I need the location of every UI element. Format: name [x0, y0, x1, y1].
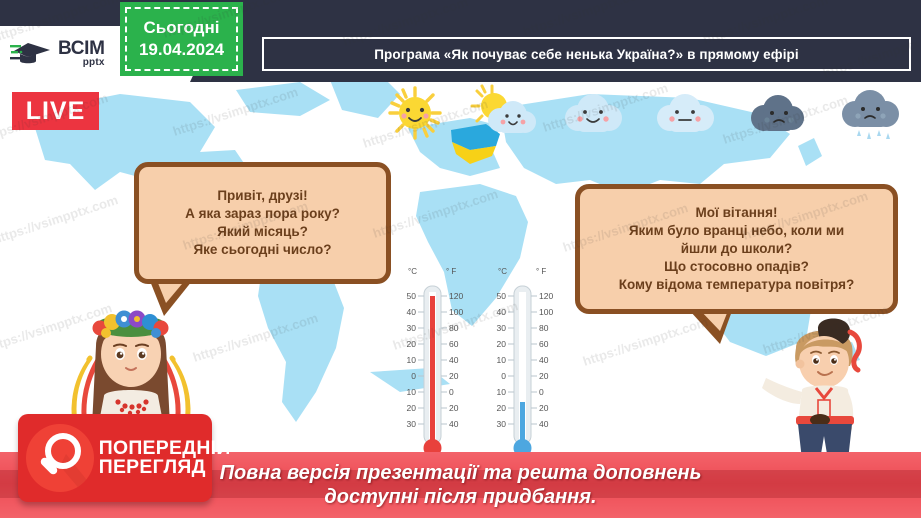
thermo1-f-20: 20 [449, 371, 459, 381]
thermo2-f-0: 0 [539, 387, 544, 397]
thermo2-c-n20: 20 [497, 403, 507, 413]
rain-cloud-icon [831, 82, 909, 144]
thermo1-f-0: 0 [449, 387, 454, 397]
thermo1-c-20: 20 [407, 339, 417, 349]
thermo1-c-30: 30 [407, 323, 417, 333]
thermo1-c-10: 10 [407, 355, 417, 365]
thermo1-f-80: 80 [449, 323, 459, 333]
thermo2-unit-right: ° F [536, 267, 546, 276]
brand-logo: ВСІМ pptx [10, 36, 125, 72]
today-date-box: Сьогодні 19.04.2024 [120, 2, 243, 76]
today-label: Сьогодні [144, 18, 220, 38]
graduation-cap-icon [10, 39, 54, 69]
thermo2-c-20: 20 [497, 339, 507, 349]
header-title-box: Програма «Як почуває себе ненька Україна… [262, 37, 911, 71]
thermo2-c-30: 30 [497, 323, 507, 333]
speech-bubble-left: Привіт, друзі! А яка зараз пора року? Як… [134, 162, 391, 284]
thermo1-c-n30: 30 [407, 419, 417, 429]
thermo2-c-0: 0 [501, 371, 506, 381]
bubble-right-line-3: йшли до школи? [681, 240, 793, 258]
live-label: LIVE [26, 97, 86, 126]
preview-badge-line-1: ПОПЕРЕДНІЙ [99, 439, 231, 458]
ukrainian-boy-character [762, 312, 892, 467]
thermo2-f-60: 60 [539, 339, 549, 349]
dark-cloud-icon [738, 82, 816, 144]
bubble-right-line-4: Що стосовно опадів? [664, 258, 809, 276]
bubble-left-line-3: Який місяць? [217, 223, 308, 241]
thermo2-c-10: 10 [497, 355, 507, 365]
thermo2-f-120: 120 [539, 291, 553, 301]
bottom-banner-line-1: Повна версія презентації та решта доповн… [220, 461, 702, 485]
thermo2-f-40: 40 [539, 355, 549, 365]
cloud-icon-2 [646, 82, 724, 144]
live-badge: LIVE [12, 92, 99, 130]
thermo2-f-n20: 20 [539, 403, 549, 413]
presentation-slide: Програма «Як почуває себе ненька Україна… [0, 0, 921, 518]
preview-badge[interactable]: ПОПЕРЕДНІЙ ПЕРЕГЛЯД [18, 414, 212, 502]
thermo2-c-n10: 10 [497, 387, 507, 397]
thermo1-f-100: 100 [449, 307, 463, 317]
preview-icon-circle [26, 424, 94, 492]
bottom-banner-line-2: доступні після придбання. [324, 485, 596, 509]
thermo2-c-50: 50 [497, 291, 507, 301]
magnifier-icon [26, 424, 94, 492]
today-date: 19.04.2024 [139, 40, 224, 60]
speech-bubble-right: Мої вітання! Яким було вранці небо, коли… [575, 184, 898, 314]
thermo1-f-n20: 20 [449, 403, 459, 413]
thermo2-f-20: 20 [539, 371, 549, 381]
thermo1-f-120: 120 [449, 291, 463, 301]
thermo1-f-n40: 40 [449, 419, 459, 429]
thermo2-f-n40: 40 [539, 419, 549, 429]
logo-subname: pptx [58, 58, 105, 68]
bubble-left-line-1: Привіт, друзі! [217, 187, 307, 205]
bubble-left-line-4: Яке сьогодні число? [193, 241, 331, 259]
weather-icons-row [376, 82, 916, 144]
thermo1-c-40: 40 [407, 307, 417, 317]
thermo2-f-80: 80 [539, 323, 549, 333]
thermo1-unit-right: ° F [446, 267, 456, 276]
bubble-right-line-2: Яким було вранці небо, коли ми [629, 222, 844, 240]
thermo2-unit-left: °C [498, 267, 507, 276]
logo-name: ВСІМ [58, 40, 105, 58]
preview-badge-line-2: ПЕРЕГЛЯД [99, 458, 231, 477]
thermo2-c-40: 40 [497, 307, 507, 317]
thermo2-f-100: 100 [539, 307, 553, 317]
thermometer-celsius-blue: °C ° F 50 40 30 20 10 0 10 20 30 [486, 262, 558, 460]
thermo1-c-0: 0 [411, 371, 416, 381]
sun-icon [376, 82, 454, 144]
thermo2-c-n30: 30 [497, 419, 507, 429]
thermo1-f-40: 40 [449, 355, 459, 365]
thermo1-c-50: 50 [407, 291, 417, 301]
bubble-right-line-1: Мої вітання! [696, 204, 778, 222]
thermometer-celsius-red: °C ° F 50 40 30 20 10 0 10 20 30 [396, 262, 468, 460]
bubble-right-line-5: Кому відома температура повітря? [619, 276, 855, 294]
page-title: Програма «Як почуває себе ненька Україна… [374, 47, 799, 62]
bubble-left-line-2: А яка зараз пора року? [185, 205, 340, 223]
thermo1-f-60: 60 [449, 339, 459, 349]
sun-behind-cloud-icon [466, 82, 544, 144]
thermo1-c-n10: 10 [407, 387, 417, 397]
thermo1-c-n20: 20 [407, 403, 417, 413]
cloud-icon [554, 82, 632, 144]
thermo1-unit-left: °C [408, 267, 417, 276]
